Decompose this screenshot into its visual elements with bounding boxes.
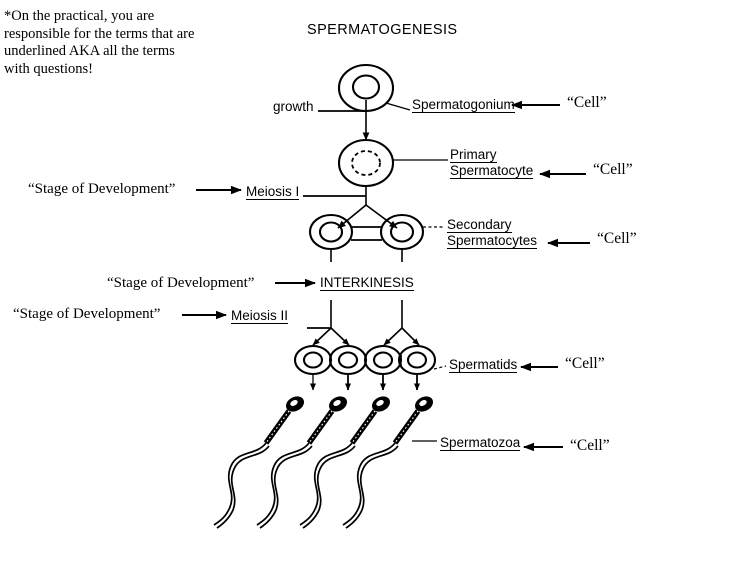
primary-spermatocyte-cell xyxy=(339,140,393,186)
spermatozoon-2 xyxy=(257,393,350,528)
split-arrow-spermatid-4 xyxy=(402,328,419,345)
split-arrow-left-secondary xyxy=(338,205,366,228)
stage-annotation-meiosis-2: “Stage of Development” xyxy=(13,306,160,323)
practical-note: *On the practical, you are responsible f… xyxy=(4,8,254,78)
spermatozoon-4 xyxy=(343,393,436,528)
label-growth: growth xyxy=(273,99,314,114)
stage-annotation-meiosis-1: “Stage of Development” xyxy=(28,181,175,198)
label-spermatocyte: Spermatocyte xyxy=(450,163,533,179)
spermatid-2 xyxy=(330,346,366,374)
page-title: SPERMATOGENESIS xyxy=(307,22,458,38)
split-arrow-spermatid-1 xyxy=(313,328,331,345)
label-spermatozoa: Spermatozoa xyxy=(440,435,520,451)
label-secondary: Secondary xyxy=(447,217,512,233)
split-arrow-right-secondary xyxy=(366,205,397,228)
leader-spermatogonium xyxy=(386,103,410,110)
cell-annotation-spermatids: “Cell” xyxy=(565,355,605,373)
secondary-spermatocyte-left xyxy=(310,215,352,249)
label-primary: Primary xyxy=(450,147,497,163)
label-spermatogonium: Spermatogonium xyxy=(412,97,515,113)
stage-annotation-interkinesis: “Stage of Development” xyxy=(107,275,254,292)
cell-annotation-spermatozoa: “Cell” xyxy=(570,437,610,455)
label-meiosis-1: Meiosis I xyxy=(246,184,299,200)
spermatid-1 xyxy=(295,346,331,374)
spermatozoon-3 xyxy=(300,393,393,528)
leader-spermatids xyxy=(434,366,446,369)
spermatid-4 xyxy=(399,346,435,374)
split-arrow-spermatid-2 xyxy=(331,328,349,345)
secondary-spermatocyte-right xyxy=(381,215,423,249)
spermatozoon-1 xyxy=(214,393,307,528)
label-interkinesis: INTERKINESIS xyxy=(320,275,414,291)
split-arrow-spermatid-3 xyxy=(384,328,402,345)
spermatogonium-cell xyxy=(339,65,393,111)
label-spermatids: Spermatids xyxy=(449,357,517,373)
cell-annotation-spermatogonium: “Cell” xyxy=(567,94,607,112)
label-meiosis-2: Meiosis II xyxy=(231,308,288,324)
spermatogenesis-diagram: *On the practical, you are responsible f… xyxy=(0,0,756,567)
label-spermatocytes: Spermatocytes xyxy=(447,233,537,249)
cell-annotation-secondary-spermatocytes: “Cell” xyxy=(597,230,637,248)
spermatid-3 xyxy=(365,346,401,374)
cell-annotation-primary-spermatocyte: “Cell” xyxy=(593,161,633,179)
